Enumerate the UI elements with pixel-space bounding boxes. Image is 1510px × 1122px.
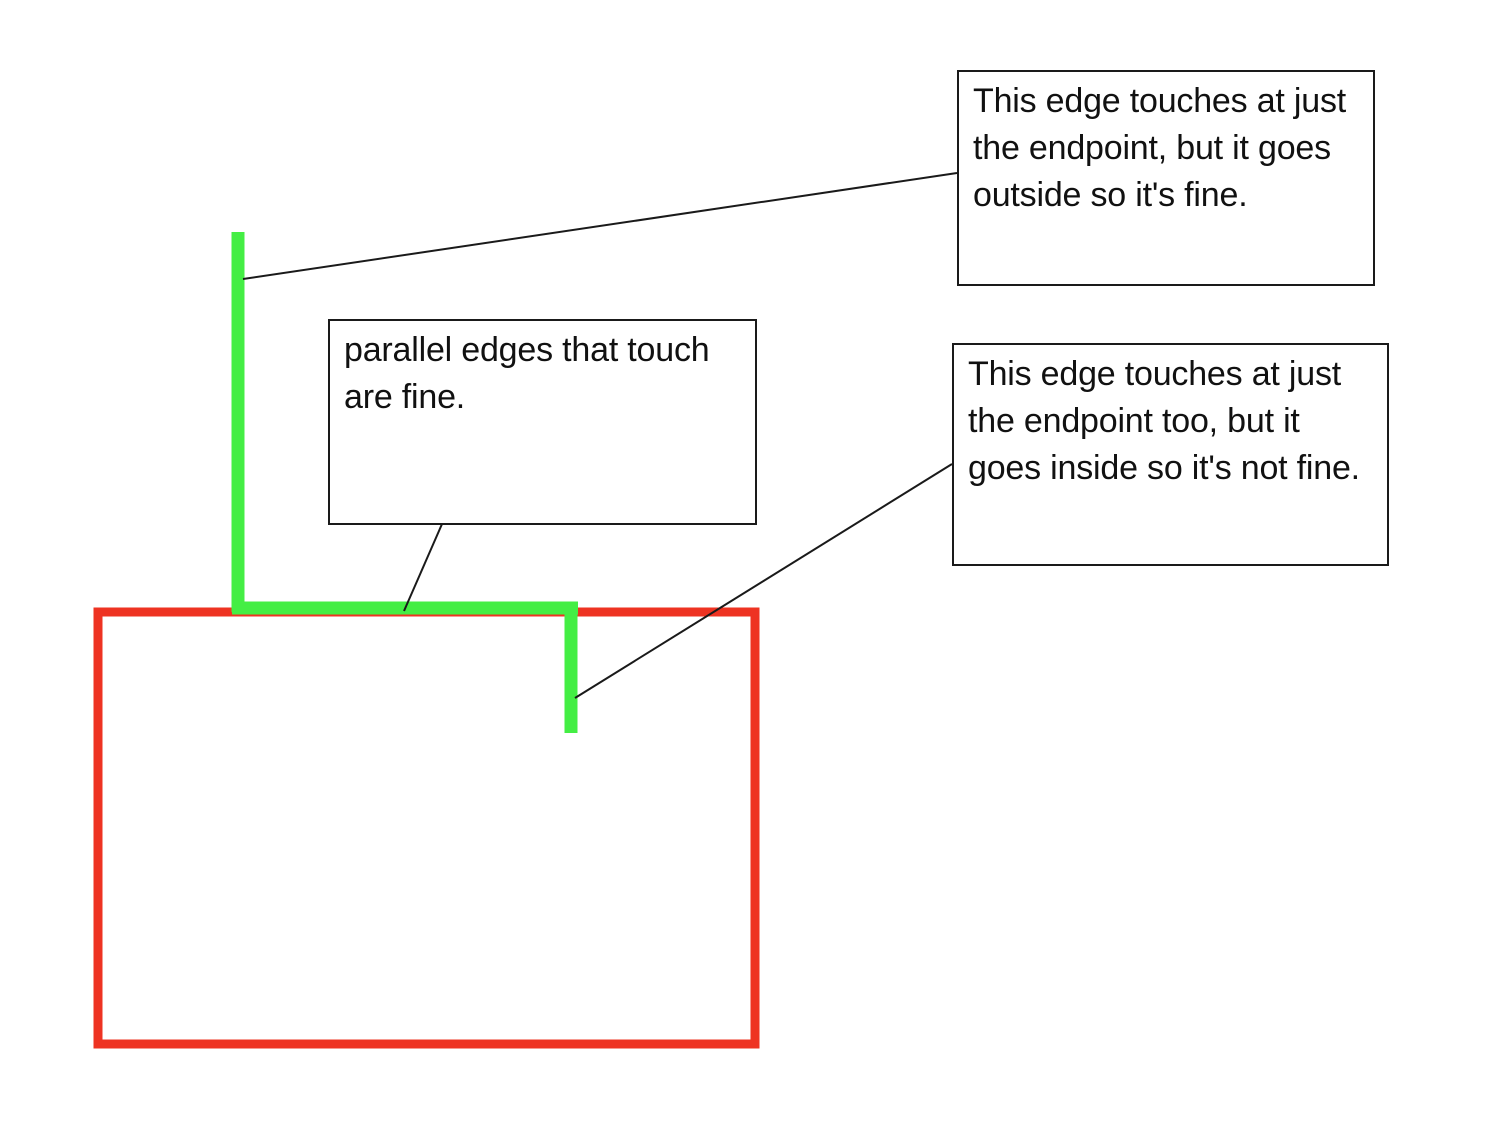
leader-line-edge-outside bbox=[243, 173, 957, 279]
leader-line-parallel-edges bbox=[404, 524, 442, 611]
callout-edge-inside: This edge touches at just the endpoint t… bbox=[952, 343, 1389, 566]
callout-parallel-edges-text: parallel edges that touch are fine. bbox=[330, 321, 755, 421]
callout-edge-outside: This edge touches at just the endpoint, … bbox=[957, 70, 1375, 286]
callout-parallel-edges: parallel edges that touch are fine. bbox=[328, 319, 757, 525]
callout-edge-inside-text: This edge touches at just the endpoint t… bbox=[954, 345, 1387, 492]
diagram-canvas: This edge touches at just the endpoint, … bbox=[0, 0, 1510, 1122]
red-polygon-rectangle bbox=[98, 612, 755, 1044]
callout-edge-outside-text: This edge touches at just the endpoint, … bbox=[959, 72, 1373, 219]
